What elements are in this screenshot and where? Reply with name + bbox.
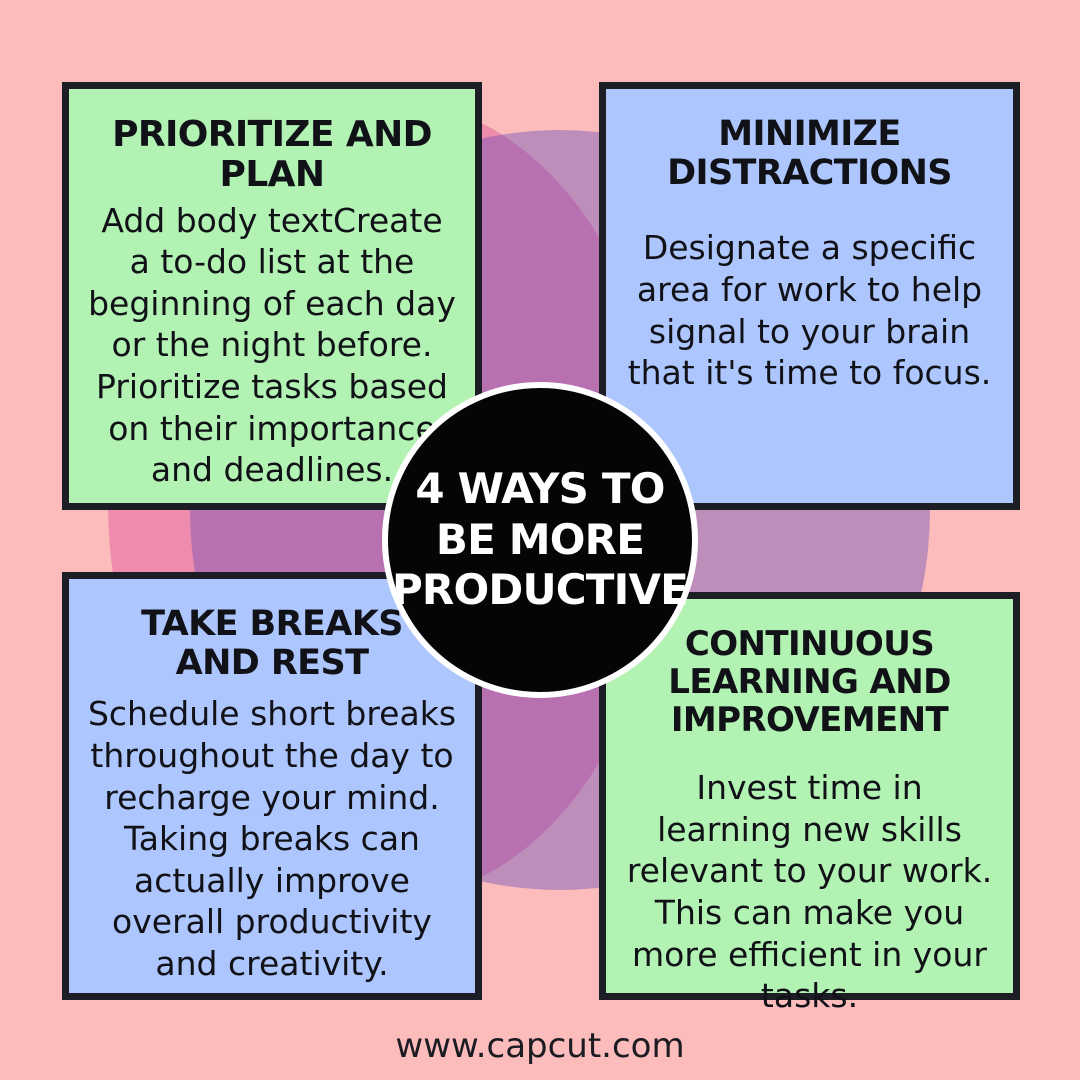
card-title-minimize-distractions: MINIMIZE DISTRACTIONS [624, 115, 995, 193]
footer-url: www.capcut.com [0, 1026, 1080, 1066]
card-continuous-learning-and-improvement: CONTINUOUS LEARNING AND IMPROVEMENT Inve… [599, 592, 1020, 1000]
center-badge-title: 4 WAYS TO BE MORE PRODUCTIVE [388, 464, 692, 615]
card-title-prioritize-and-plan: PRIORITIZE AND PLAN [87, 115, 457, 196]
card-body-continuous-learning-and-improvement: Invest time in learning new skills relev… [624, 767, 995, 1016]
productivity-infographic: PRIORITIZE AND PLAN Add body textCreate … [0, 0, 1080, 1080]
card-body-minimize-distractions: Designate a specific area for work to he… [624, 227, 995, 393]
card-title-continuous-learning-and-improvement: CONTINUOUS LEARNING AND IMPROVEMENT [624, 625, 995, 739]
card-body-take-breaks-and-rest: Schedule short breaks throughout the day… [87, 693, 457, 984]
center-badge: 4 WAYS TO BE MORE PRODUCTIVE [382, 382, 698, 698]
card-body-prioritize-and-plan: Add body textCreate a to-do list at the … [87, 200, 457, 491]
